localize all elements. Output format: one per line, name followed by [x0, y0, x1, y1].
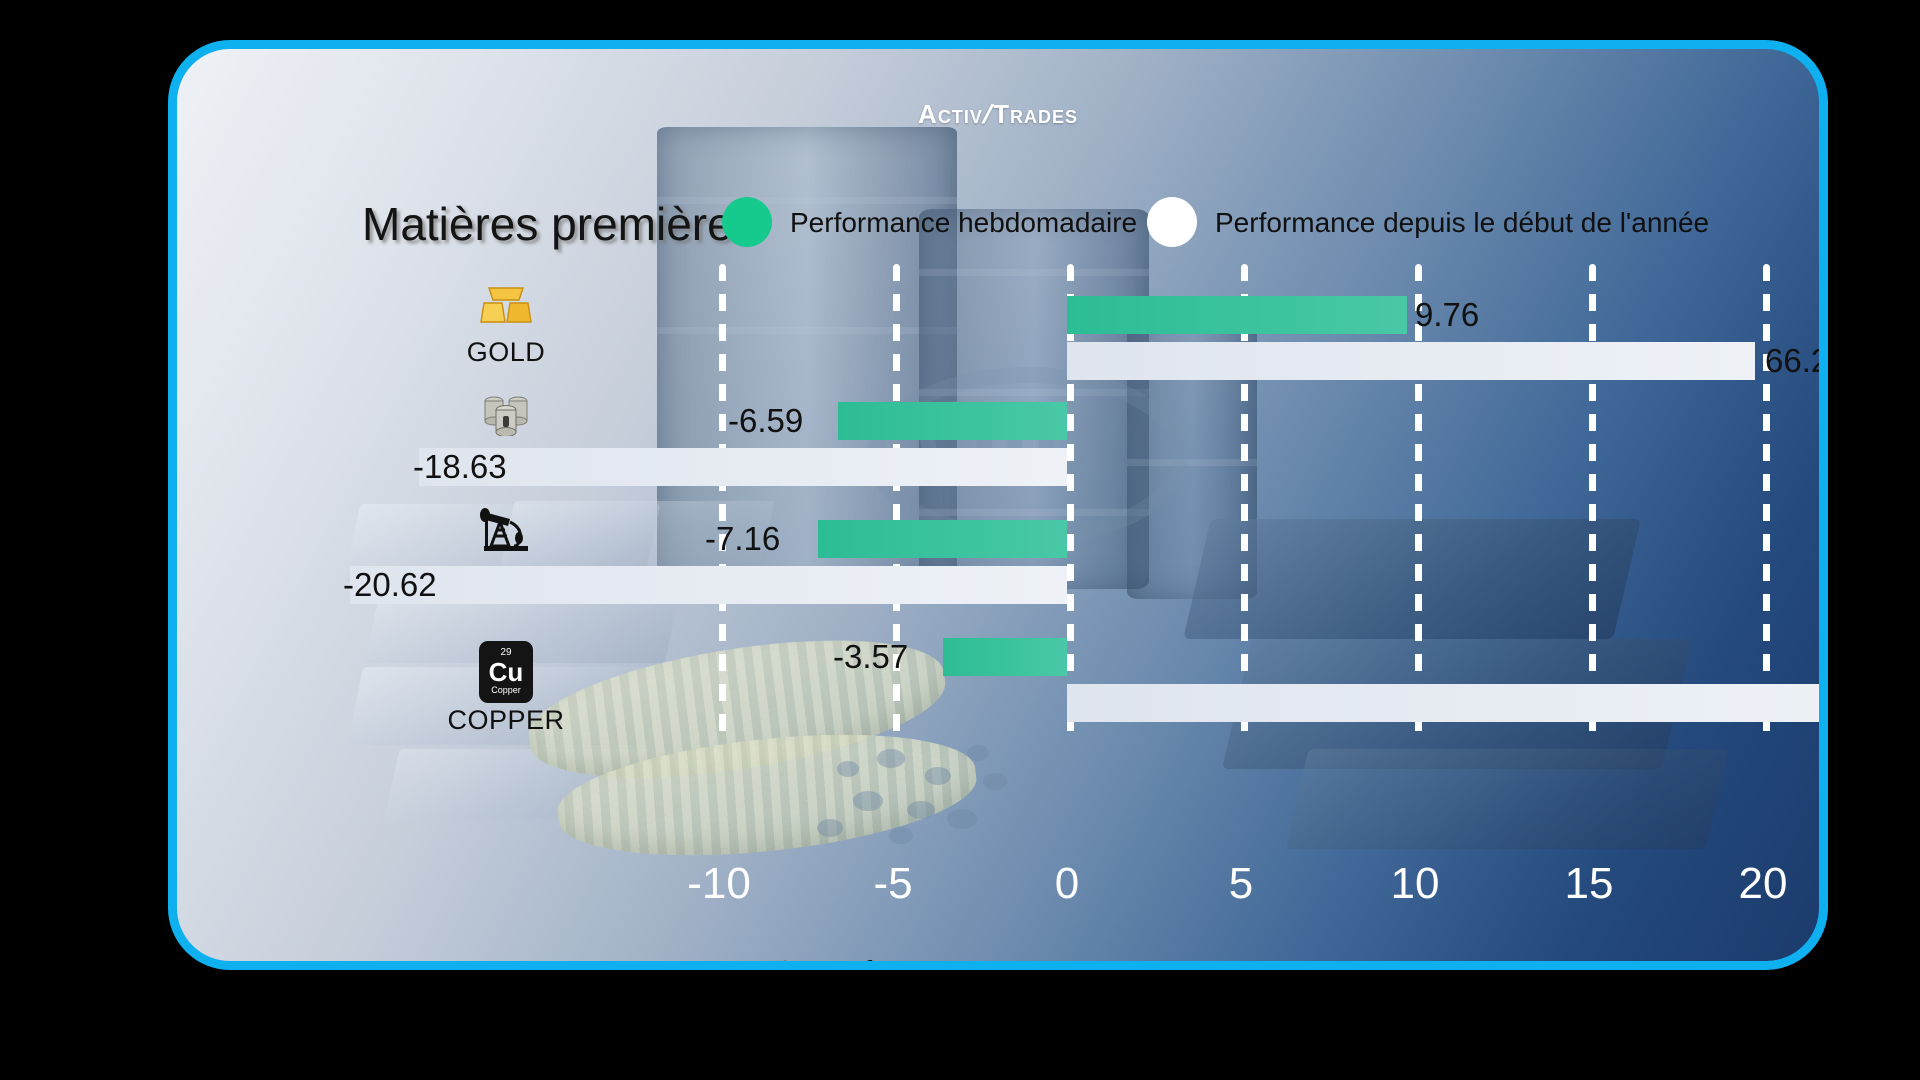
oil-barrels-icon [441, 392, 571, 445]
x-tick-0: 0 [1055, 859, 1079, 909]
x-axis-title: % Performance en pourcentage [177, 954, 1819, 970]
bar-ytd-gold [1067, 342, 1755, 380]
row-icon-oil [441, 506, 571, 565]
value-ytd-brent: -18.63 [413, 448, 507, 486]
x-tick-20: 20 [1739, 859, 1788, 909]
copper-symbol: Cu [489, 659, 524, 685]
value-weekly-copper: -3.57 [833, 638, 908, 676]
brand-logo-part2: Trades [993, 99, 1078, 129]
row-label-gold: GOLD [441, 337, 571, 368]
legend-dot-ytd [1147, 197, 1197, 247]
gridline-15 [1589, 264, 1596, 739]
gridline--10 [719, 264, 726, 739]
gridline-10 [1415, 264, 1422, 739]
x-tick-15: 15 [1565, 859, 1614, 909]
copper-element-name: Copper [491, 686, 521, 695]
screenshot-stage: OIL Activ/Trades Matières premi [0, 0, 1920, 1080]
value-weekly-brent: -6.59 [728, 402, 803, 440]
bar-weekly-oil [818, 520, 1067, 558]
row-icon-gold: GOLD [441, 286, 571, 368]
row-icon-copper: 29 Cu Copper COPPER [441, 620, 571, 736]
legend-dot-weekly [722, 197, 772, 247]
bar-ytd-copper [1067, 684, 1828, 722]
infographic-card: OIL Activ/Trades Matières premi [168, 40, 1828, 970]
gridline-0 [1067, 264, 1074, 739]
silver-ingot [385, 749, 700, 819]
metal-ingot [1285, 749, 1728, 849]
x-tick--10: -10 [687, 859, 751, 909]
bar-weekly-gold [1067, 296, 1407, 334]
oil-barrels-icon-svg [481, 392, 531, 436]
x-tick--5: -5 [873, 859, 912, 909]
value-weekly-gold: 9.76 [1415, 296, 1479, 334]
copper-element-icon: 29 Cu Copper [441, 620, 571, 703]
value-ytd-gold: 66.27 [1765, 342, 1828, 380]
chart-plot-area: GOLD 9.76 66.27 [383, 264, 1811, 739]
brand-logo-part1: Activ [918, 99, 983, 129]
corn-cob [552, 717, 981, 872]
value-ytd-oil: -20.62 [343, 566, 437, 604]
brand-logo: Activ/Trades [177, 99, 1819, 130]
bar-ytd-oil [350, 566, 1067, 604]
x-tick-10: 10 [1391, 859, 1440, 909]
row-label-copper: COPPER [441, 705, 571, 736]
bar-ytd-brent [419, 448, 1067, 486]
legend-label-ytd: Performance depuis le début de l'année [1215, 207, 1709, 239]
page-title: Matières premières [362, 197, 756, 251]
x-tick-5: 5 [1229, 859, 1253, 909]
legend-label-weekly: Performance hebdomadaire [790, 207, 1137, 239]
gridline-20 [1763, 264, 1770, 739]
value-weekly-oil: -7.16 [705, 520, 780, 558]
gold-bars-icon-svg [479, 286, 533, 326]
gold-bars-icon [441, 286, 571, 335]
bar-weekly-brent [838, 402, 1067, 440]
oil-derrick-icon [476, 506, 536, 563]
gridline-5 [1241, 264, 1248, 739]
oil-derrick-icon-svg [476, 506, 536, 554]
bar-weekly-copper [943, 638, 1067, 676]
